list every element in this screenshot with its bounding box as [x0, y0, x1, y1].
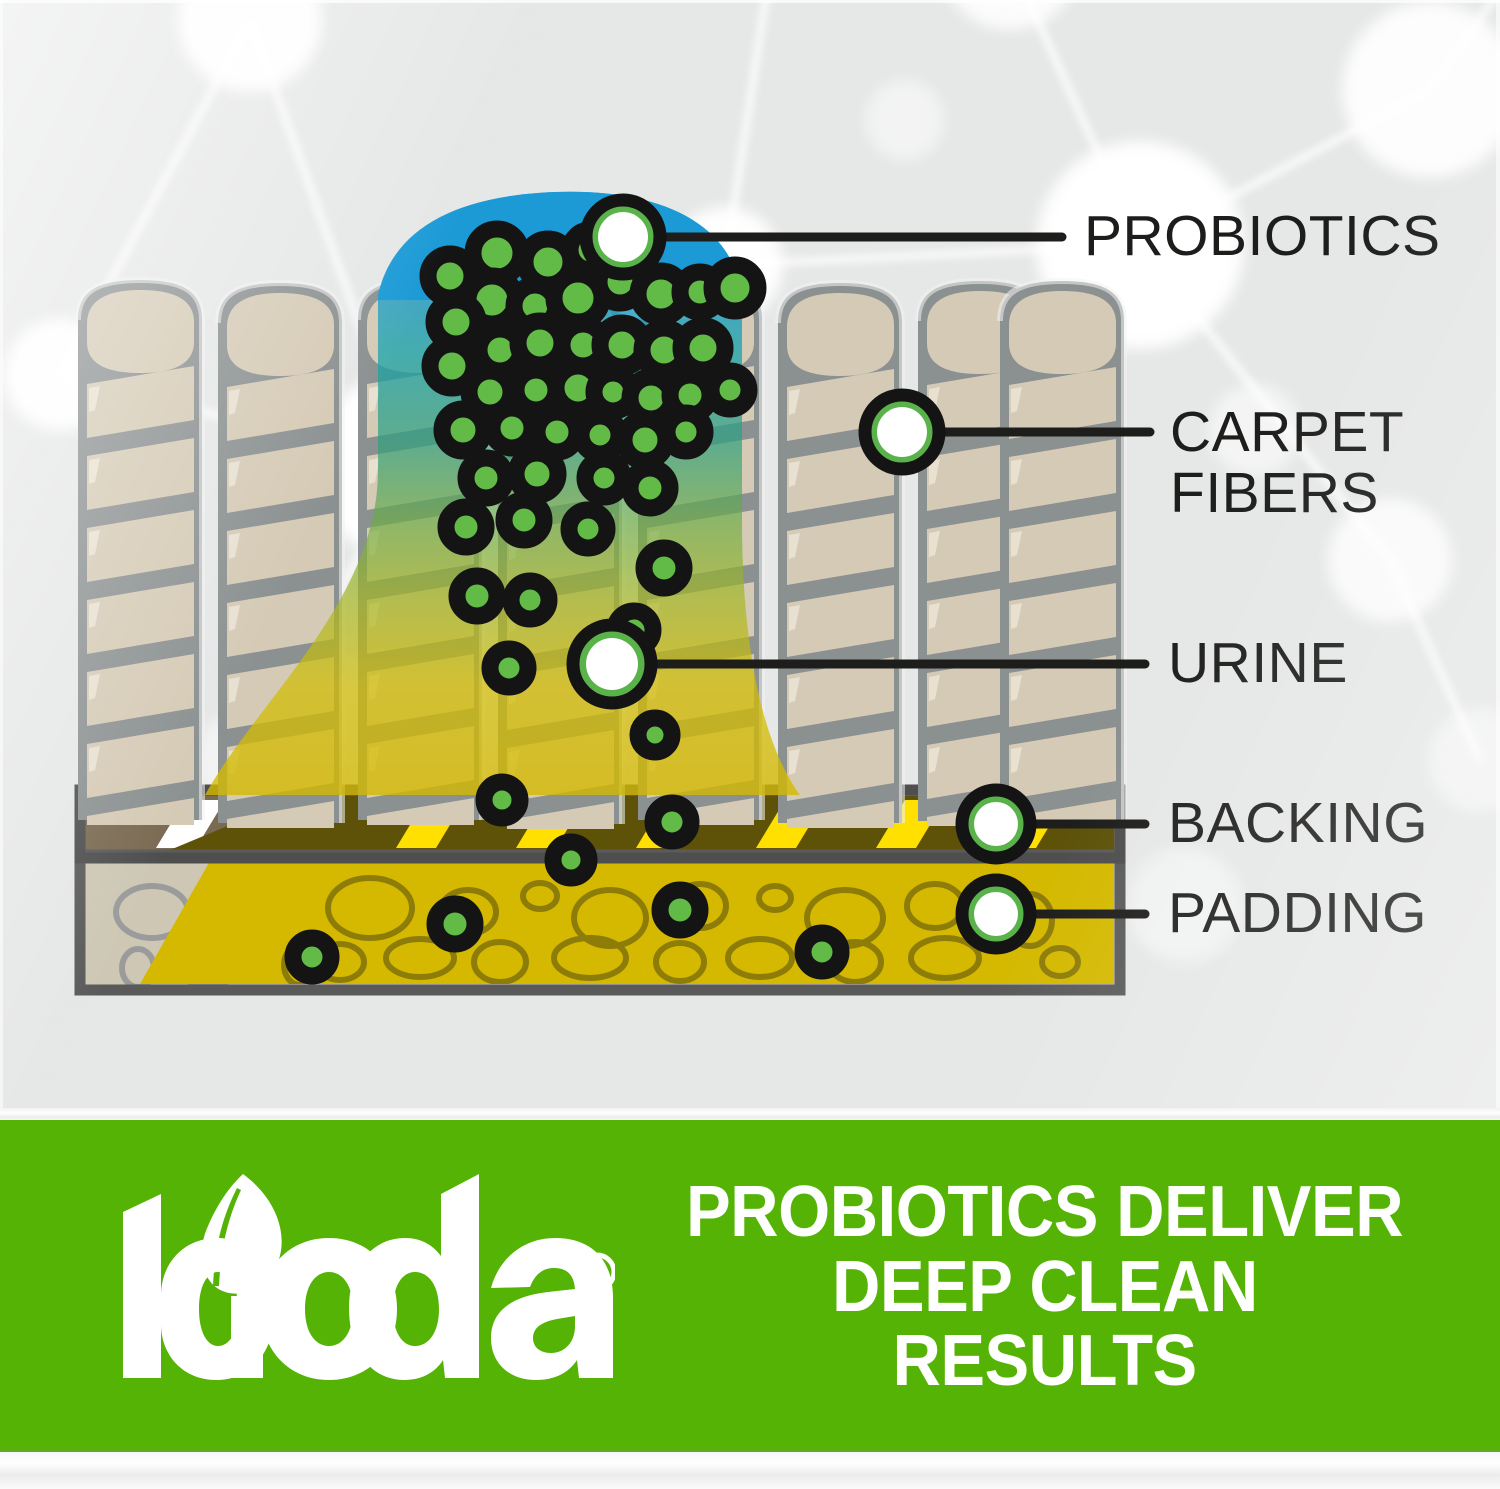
panel-edge-top	[0, 0, 1500, 3]
callout-label-padding: PADDING	[1168, 883, 1427, 944]
logo-letter-b-stem	[123, 1194, 161, 1378]
logo-letter-d	[349, 1174, 479, 1380]
callout-label-probiotics: PROBIOTICS	[1084, 206, 1441, 267]
diagram-panel: PROBIOTICS CARPET FIBERS URINE BACKING P…	[0, 0, 1500, 1108]
marker-probiotics[interactable]	[586, 200, 660, 274]
marker-carpet-fibers[interactable]	[865, 395, 939, 469]
bioda-logo[interactable]	[105, 1168, 615, 1398]
marker-urine[interactable]	[573, 625, 651, 703]
panel-edge-left	[0, 0, 3, 1108]
headline-line-1: PROBIOTICS DELIVER	[686, 1175, 1403, 1250]
marker-backing[interactable]	[962, 790, 1030, 858]
callout-label-carpet-fibers: CARPET FIBERS	[1170, 402, 1404, 524]
headline-line-2: DEEP CLEAN	[832, 1250, 1258, 1325]
headline-line-3: RESULTS	[893, 1324, 1197, 1399]
infographic-root: PROBIOTICS CARPET FIBERS URINE BACKING P…	[0, 0, 1500, 1489]
marker-padding[interactable]	[962, 880, 1030, 948]
callout-label-urine: URINE	[1168, 633, 1348, 694]
callout-label-backing: BACKING	[1168, 793, 1428, 854]
logo-letter-i	[231, 1296, 263, 1378]
callout-label-carpet-fibers-line2: FIBERS	[1170, 463, 1404, 524]
panel-divider-shelf	[0, 1108, 1500, 1120]
logo-letter-a	[491, 1238, 613, 1380]
panel-edge-right	[1496, 0, 1500, 1108]
banner-bottom-shelf	[0, 1452, 1500, 1489]
banner-headline: PROBIOTICS DELIVER DEEP CLEAN RESULTS	[620, 1152, 1470, 1422]
bioda-logo-svg	[105, 1168, 615, 1398]
callout-label-carpet-fibers-line1: CARPET	[1170, 402, 1404, 463]
